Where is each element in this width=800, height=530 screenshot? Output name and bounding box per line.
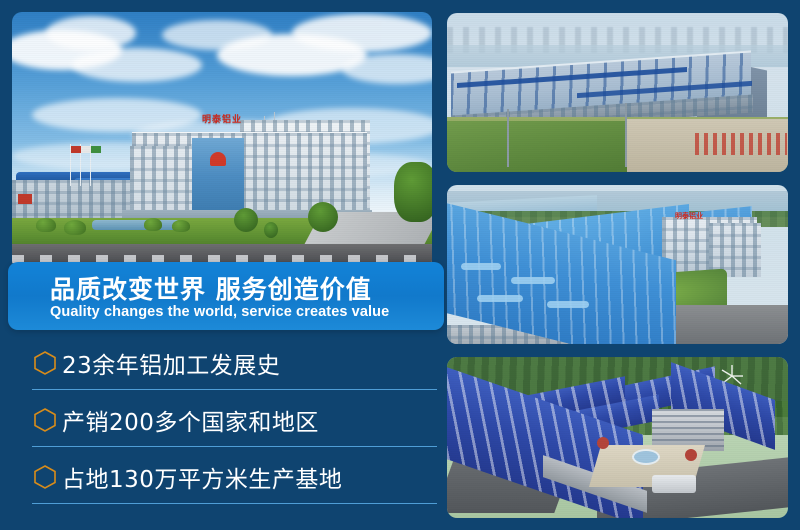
cloud xyxy=(292,14,432,52)
list-item[interactable]: 占地130万平方米生产基地 xyxy=(12,456,444,513)
glass-curtain-wall xyxy=(192,138,244,214)
tree xyxy=(685,449,697,461)
rooftop-sign-text: 明泰铝业 xyxy=(202,112,242,125)
flag xyxy=(91,146,101,153)
roof-vent xyxy=(461,263,501,270)
parked-vehicles xyxy=(695,133,787,155)
tree xyxy=(394,162,432,222)
list-item[interactable]: 产销200多个国家和地区 xyxy=(12,399,444,456)
slogan-headline-en: Quality changes the world, service creat… xyxy=(50,304,389,320)
water-feature xyxy=(92,220,180,230)
promo-page: 明泰铝业 品质改变世界 服务创造价值 Quality changes the w… xyxy=(0,0,800,530)
tree xyxy=(264,222,278,238)
cloud xyxy=(72,48,202,82)
flag xyxy=(71,146,81,153)
roof-vent xyxy=(547,301,589,308)
fountain xyxy=(632,449,660,465)
cloud xyxy=(46,16,136,50)
power-pylon xyxy=(507,109,509,167)
list-item[interactable]: 23余年铝加工发展史 xyxy=(12,342,444,399)
feature-text: 产销200多个国家和地区 xyxy=(62,403,319,437)
right-column: 明泰铝业 xyxy=(447,13,788,518)
divider xyxy=(32,503,437,504)
gatehouse xyxy=(652,475,696,493)
company-logo-emblem xyxy=(210,152,226,166)
shrub xyxy=(64,220,86,235)
hexagon-icon xyxy=(32,464,58,490)
slogan-headline-cn: 品质改变世界 服务创造价值 xyxy=(50,270,372,306)
greenbelt xyxy=(447,121,637,172)
shrub xyxy=(144,218,162,231)
feature-text: 占地130万平方米生产基地 xyxy=(62,460,342,494)
red-signboard xyxy=(18,194,32,204)
power-pylon xyxy=(625,103,627,167)
flag xyxy=(81,146,91,153)
roof-vent xyxy=(477,295,523,302)
aerial-factory-photo[interactable] xyxy=(447,13,788,172)
tree xyxy=(597,437,609,449)
rooftop-sign-text: 明泰铝业 xyxy=(675,211,703,221)
blue-roof-workshop-photo[interactable]: 明泰铝业 xyxy=(447,185,788,344)
tree xyxy=(234,208,258,232)
left-column: 明泰铝业 品质改变世界 服务创造价值 Quality changes the w… xyxy=(12,12,432,518)
feature-text: 23余年铝加工发展史 xyxy=(62,346,280,380)
feature-list: 23余年铝加工发展史 产销200多个国家和地区 占地130万平方米生产基地 xyxy=(12,342,444,513)
industrial-park-render[interactable] xyxy=(447,357,788,518)
shrub xyxy=(36,218,56,232)
company-headquarters-photo[interactable]: 明泰铝业 xyxy=(12,12,432,270)
slogan-banner: 品质改变世界 服务创造价值 Quality changes the world,… xyxy=(8,262,444,330)
tree xyxy=(308,202,338,232)
roof-vent xyxy=(511,277,555,284)
divider xyxy=(32,389,437,390)
divider xyxy=(32,446,437,447)
hexagon-icon xyxy=(32,350,58,376)
hexagon-icon xyxy=(32,407,58,433)
shrub xyxy=(172,220,190,232)
